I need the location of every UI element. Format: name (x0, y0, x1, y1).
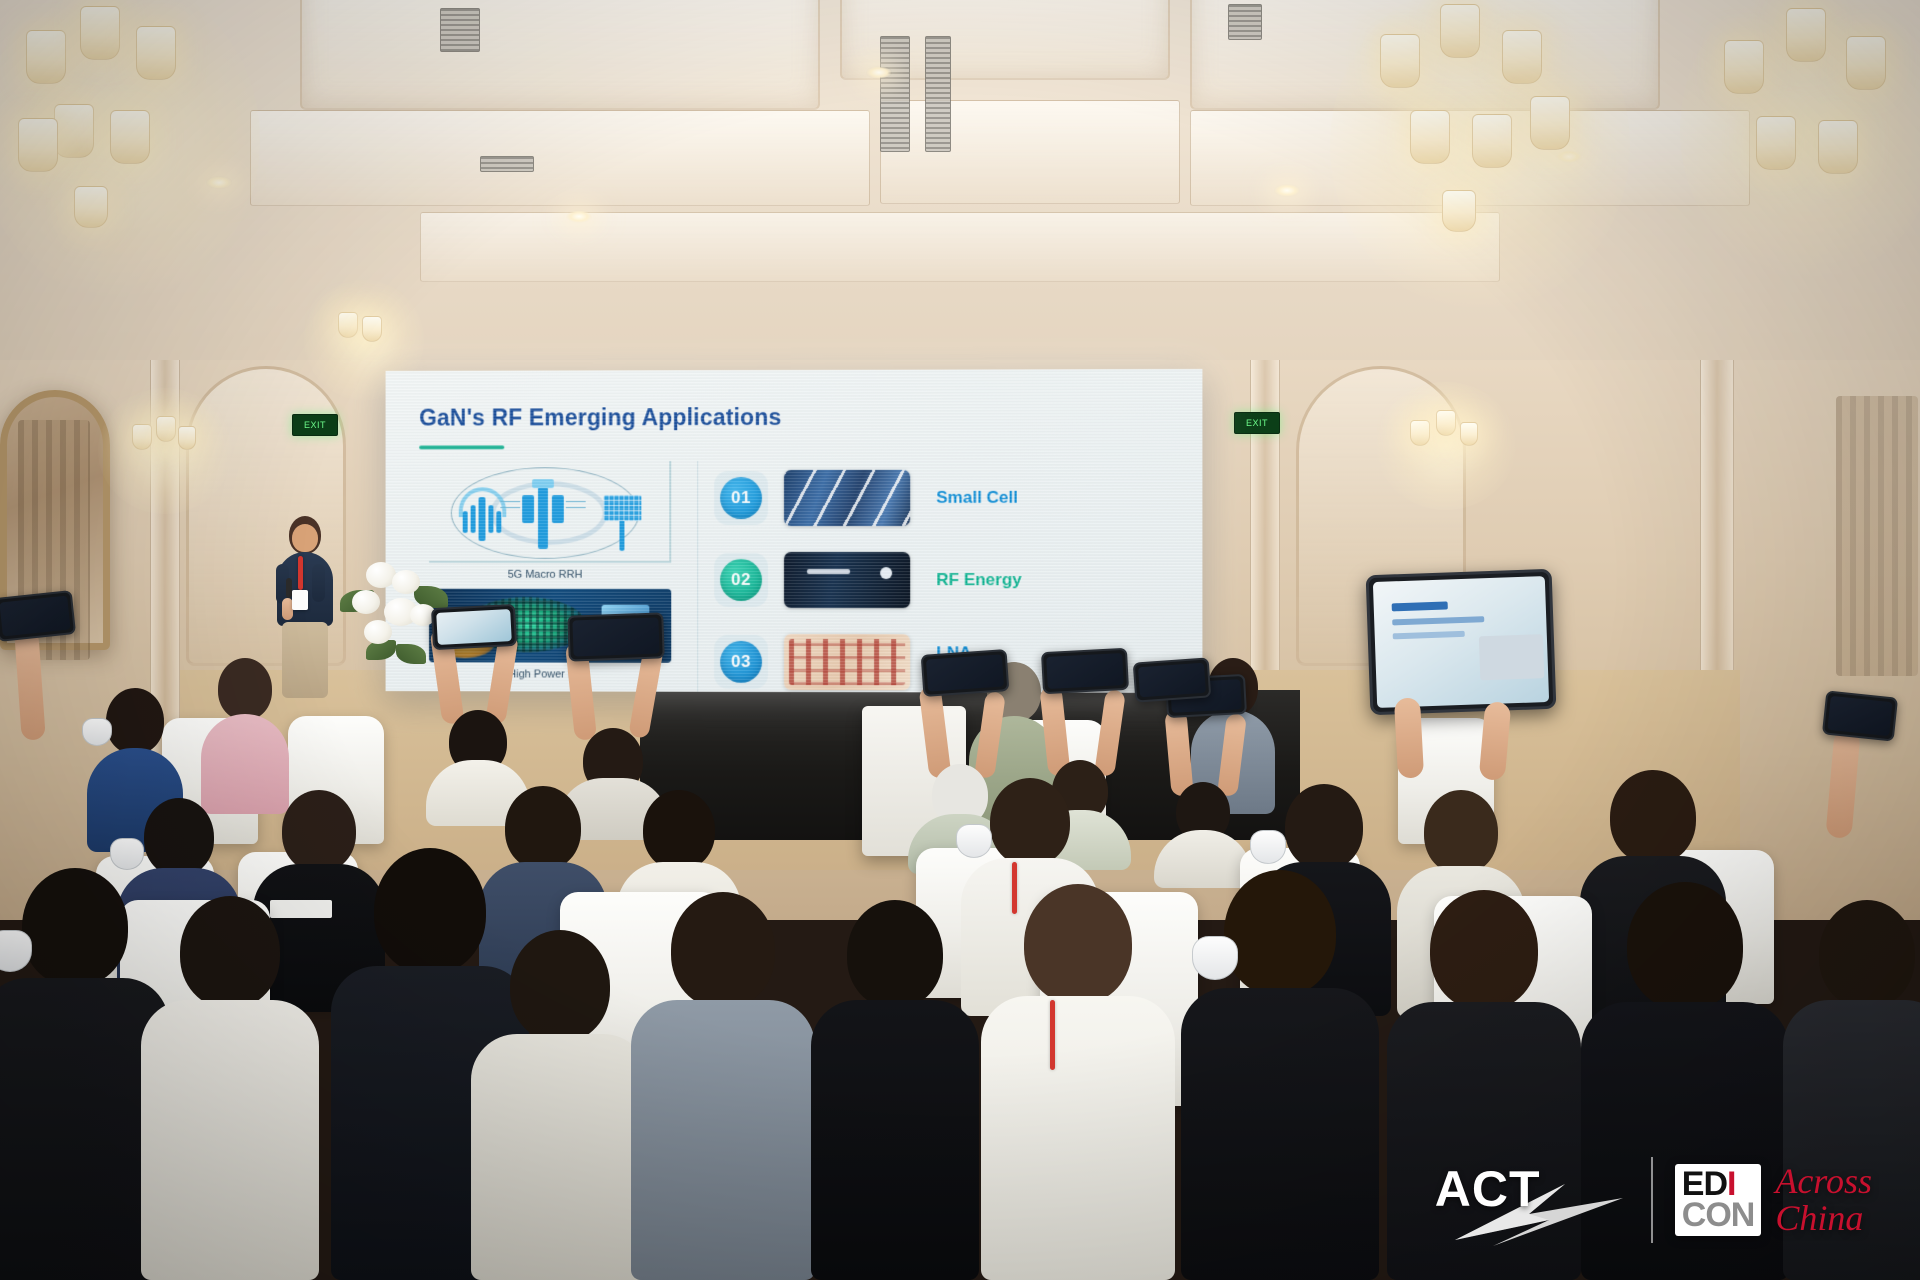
wall-sconce-right (1404, 404, 1484, 486)
application-label-rf-energy: RF Energy (936, 571, 1021, 590)
ceiling (0, 0, 1920, 400)
audience-member (140, 896, 320, 1280)
act-logo-label: ACT (1435, 1160, 1541, 1218)
phone-camera[interactable] (1133, 657, 1212, 702)
ceiling-downlight (566, 210, 592, 223)
edicon-tagline-line1: Across (1775, 1163, 1872, 1200)
chandelier-right (1360, 0, 1590, 300)
audience-member (630, 892, 816, 1280)
badge-number-01: 01 (720, 477, 762, 519)
ceiling-panel (250, 110, 870, 206)
phone-camera[interactable] (921, 649, 1010, 697)
audience-member-filming (418, 598, 538, 808)
phone-camera[interactable] (1041, 648, 1129, 694)
wall-sconce-left (330, 300, 390, 370)
audience-member-filming (1800, 680, 1920, 880)
application-label-small-cell: Small Cell (936, 488, 1018, 507)
audience-member (200, 658, 290, 808)
ceiling-vent (925, 36, 951, 152)
badge-wrapper-01: 01 (714, 471, 768, 525)
ceiling-downlight (1274, 184, 1300, 197)
presenter-lanyard (298, 556, 303, 590)
ceiling-vent (1228, 4, 1262, 40)
phone-camera[interactable] (431, 604, 517, 650)
exit-sign-left: EXIT (292, 414, 338, 436)
audience-member (470, 930, 650, 1280)
edicon-logo: EDI CON Across China (1675, 1163, 1872, 1236)
audience-member (980, 884, 1176, 1280)
audience-member (1180, 870, 1380, 1280)
wall-sconce-left-lower (126, 410, 200, 490)
badge-wrapper-02: 02 (714, 553, 768, 607)
tablet-camera[interactable] (1366, 569, 1557, 715)
badge-number-02: 02 (720, 559, 762, 601)
slide-title-rule (419, 445, 504, 449)
application-row: 01 Small Cell (714, 463, 1172, 533)
stadium-small-cell-photo (784, 470, 910, 526)
edicon-tagline-line2: China (1775, 1200, 1872, 1237)
phone-camera[interactable] (567, 612, 665, 661)
chandelier-left (10, 0, 210, 300)
audience-member (810, 900, 980, 1280)
watermark-logos: ACT EDI CON Across China (1429, 1152, 1872, 1248)
edicon-tagline: Across China (1775, 1163, 1872, 1236)
edicon-mark: EDI CON (1675, 1164, 1762, 1237)
ceiling-vent (480, 156, 534, 172)
exit-sign-right: EXIT (1234, 412, 1280, 434)
ceiling-vent (440, 8, 480, 52)
exit-sign-left-label: EXIT (304, 420, 326, 430)
ceiling-coffer (300, 0, 820, 110)
chandelier-far-right (1700, 0, 1900, 280)
phone-camera[interactable] (0, 590, 76, 642)
ceiling-vent (880, 36, 910, 152)
rrh-illustration (429, 461, 671, 563)
logo-separator (1651, 1157, 1653, 1243)
exit-sign-right-label: EXIT (1246, 418, 1268, 428)
edicon-line2: CON (1682, 1200, 1755, 1231)
slide-title: GaN's RF Emerging Applications (419, 403, 1172, 431)
left-caption-top: 5G Macro RRH (419, 569, 671, 581)
audience-member-filming (0, 590, 98, 790)
conference-hall-photo: EXIT EXIT GaN's RF Emerging Applications (0, 0, 1920, 1280)
phone-camera[interactable] (1822, 690, 1898, 741)
act-logo: ACT (1429, 1152, 1629, 1248)
ceiling-downlight (866, 66, 892, 79)
